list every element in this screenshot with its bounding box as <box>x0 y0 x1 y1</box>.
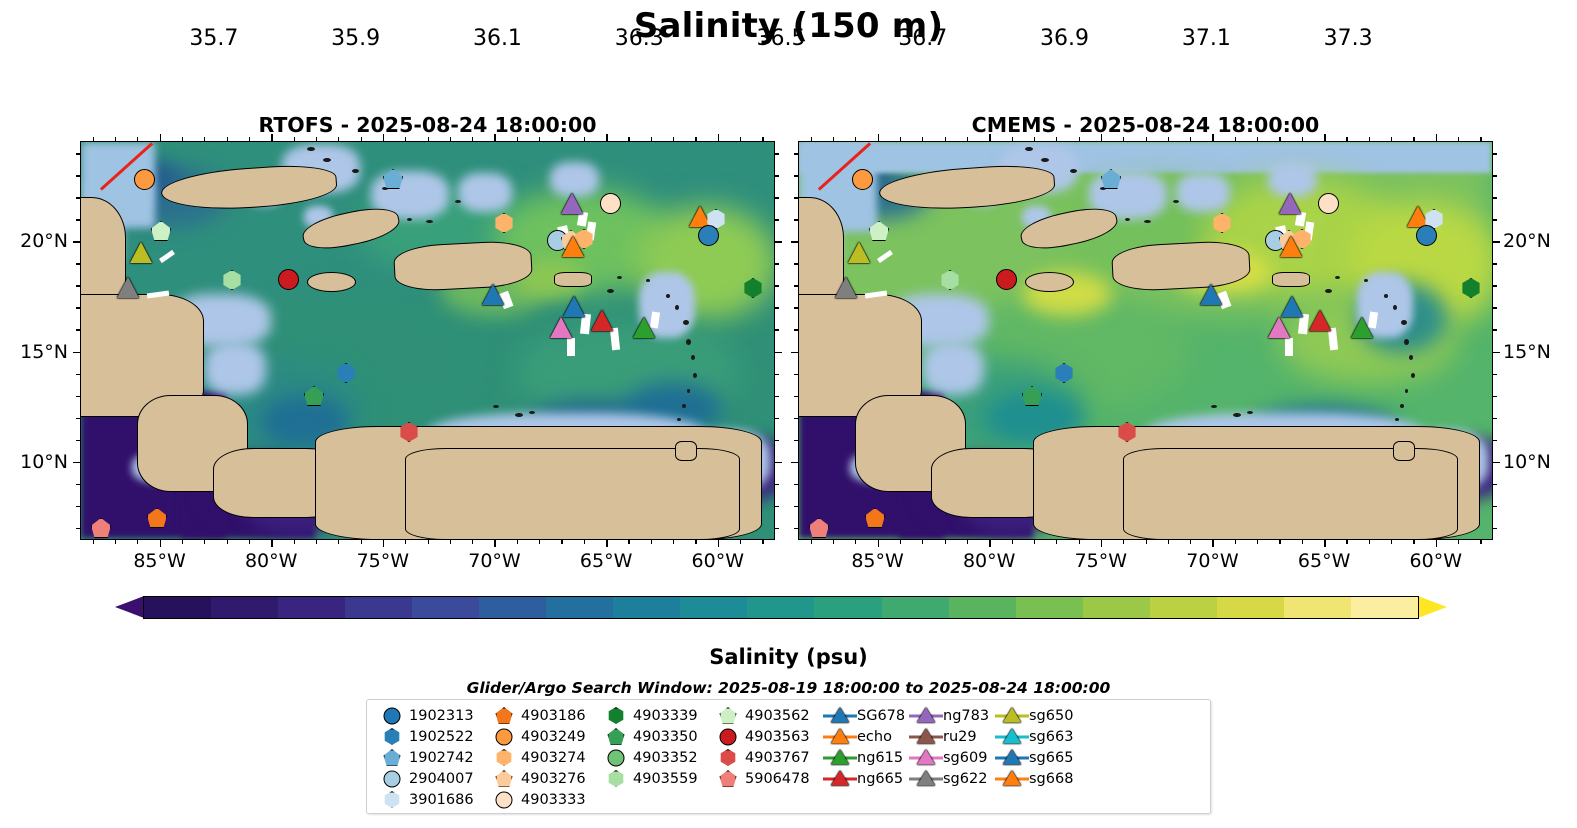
legend-marker-icon <box>375 747 409 768</box>
x-minor-tick <box>651 137 652 141</box>
y-minor-tick <box>775 175 779 176</box>
x-tick-label: 80°W <box>963 550 1015 572</box>
y-minor-tick <box>794 484 798 485</box>
map-feature <box>1176 173 1230 213</box>
x-minor-tick <box>900 540 901 544</box>
map-marker-echo[interactable] <box>562 236 584 257</box>
x-minor-tick <box>1480 540 1481 544</box>
legend-column-argo-2: 4903339490335049033524903559 <box>599 705 711 809</box>
legend-label: 5906478 <box>745 771 823 787</box>
x-minor-tick <box>1146 540 1147 544</box>
map-feature <box>693 373 697 378</box>
map-marker-echo[interactable] <box>1280 236 1302 257</box>
colorbar-swatch <box>412 597 479 618</box>
legend-marker-icon <box>711 768 745 789</box>
legend-glider-icon <box>909 747 943 768</box>
x-tick <box>606 134 608 141</box>
colorbar-extend-max-icon <box>1418 596 1447 618</box>
y-tick <box>791 462 798 464</box>
legend-marker-icon <box>711 789 745 810</box>
map-feature <box>426 220 433 223</box>
legend-glider-icon <box>995 747 1029 768</box>
map-marker-4903563[interactable] <box>278 269 299 290</box>
map-feature <box>1400 404 1404 408</box>
x-minor-tick <box>1279 137 1280 141</box>
y-minor-tick <box>76 285 80 286</box>
y-minor-tick <box>794 175 798 176</box>
x-minor-tick <box>204 137 205 141</box>
map-raster-rtofs <box>81 142 774 539</box>
colorbar-tick-label: 36.7 <box>898 26 947 51</box>
y-minor-tick <box>794 329 798 330</box>
map-marker-1902522[interactable] <box>698 225 719 246</box>
legend-label: ng665 <box>857 771 909 787</box>
map-feature <box>1272 272 1310 287</box>
legend-item-1902313[interactable]: 1902313 <box>375 705 487 726</box>
map-marker-sg665[interactable] <box>1200 284 1222 305</box>
legend-item-4903352[interactable]: 4903352 <box>599 747 711 768</box>
x-minor-tick <box>1257 540 1258 544</box>
map-marker-4903249[interactable] <box>852 169 873 190</box>
map-marker-ng783[interactable] <box>561 193 583 214</box>
legend-marker-icon <box>711 726 745 747</box>
x-minor-tick <box>1413 137 1414 141</box>
legend-glider-icon <box>995 768 1029 789</box>
y-minor-tick <box>1493 484 1497 485</box>
legend-glider-icon <box>823 747 857 768</box>
x-minor-tick <box>1391 137 1392 141</box>
x-minor-tick <box>137 540 138 544</box>
x-tick-label: 60°W <box>692 550 744 572</box>
legend-item-4903767[interactable]: 4903767 <box>711 747 823 768</box>
map-feature <box>1211 405 1217 408</box>
legend-marker-icon <box>487 747 521 768</box>
legend-item-4903563[interactable]: 4903563 <box>711 726 823 747</box>
y-minor-tick <box>775 374 779 375</box>
x-tick <box>271 540 273 547</box>
legend-glider-icon <box>995 705 1029 726</box>
map-feature <box>204 342 267 395</box>
legend-label: sg622 <box>943 771 995 787</box>
map-feature <box>1405 389 1408 393</box>
legend-label: 4903274 <box>521 750 599 766</box>
x-tick <box>1436 540 1438 547</box>
map-marker-SG678[interactable] <box>563 296 585 317</box>
y-minor-tick <box>76 528 80 529</box>
colorbar-tick-label: 36.3 <box>615 26 664 51</box>
x-tick <box>878 134 880 141</box>
legend-marker-icon <box>711 705 745 726</box>
x-minor-tick <box>539 137 540 141</box>
legend-box[interactable]: 1902313190252219027422904007390168649031… <box>366 699 1211 814</box>
x-minor-tick <box>249 137 250 141</box>
y-minor-tick <box>76 418 80 419</box>
y-minor-tick <box>794 528 798 529</box>
legend-label: 4903767 <box>745 750 823 766</box>
map-feature <box>1125 218 1130 221</box>
legend-item-empty <box>711 789 823 810</box>
y-minor-tick <box>1493 219 1497 220</box>
map-feature <box>405 448 740 540</box>
map-marker-4903333[interactable] <box>600 193 621 214</box>
y-minor-tick <box>76 506 80 507</box>
legend-label: echo <box>857 729 909 745</box>
x-minor-tick <box>1034 137 1035 141</box>
x-tick <box>718 134 720 141</box>
x-minor-tick <box>855 540 856 544</box>
x-minor-tick <box>405 540 406 544</box>
y-tick <box>1493 462 1500 464</box>
legend-column-argo-1: 49031864903249490327449032764903333 <box>487 705 599 809</box>
x-minor-tick <box>673 137 674 141</box>
y-minor-tick <box>794 285 798 286</box>
map-feature <box>675 441 697 461</box>
y-minor-tick <box>794 396 798 397</box>
x-minor-tick <box>1168 540 1169 544</box>
colorbar-tick-label: 36.9 <box>1040 26 1089 51</box>
map-feature <box>687 389 690 393</box>
x-minor-tick <box>93 137 94 141</box>
map-marker-4903333[interactable] <box>1318 193 1339 214</box>
x-minor-tick <box>1413 540 1414 544</box>
legend-marker-icon <box>375 726 409 747</box>
legend-item-3901686[interactable]: 3901686 <box>375 789 487 810</box>
y-tick <box>1493 241 1500 243</box>
x-tick-label: 85°W <box>851 550 903 572</box>
x-minor-tick <box>539 540 540 544</box>
map-marker-sg650[interactable] <box>848 242 870 263</box>
colorbar-swatch <box>1016 597 1083 618</box>
legend-label: ng783 <box>943 708 995 724</box>
legend-item-ng665[interactable]: ng665 <box>823 768 909 789</box>
colorbar <box>115 596 1447 619</box>
legend-column-glider-2: sg650sg663sg665sg668 <box>995 705 1081 809</box>
legend-glider-icon <box>909 705 943 726</box>
x-minor-tick <box>695 540 696 544</box>
legend-item-4903276[interactable]: 4903276 <box>487 768 599 789</box>
legend-marker-icon <box>487 726 521 747</box>
colorbar-swatch <box>546 597 613 618</box>
colorbar-swatch <box>479 597 546 618</box>
legend-label: 4903249 <box>521 729 599 745</box>
legend-label: sg650 <box>1029 708 1081 724</box>
y-tick <box>791 352 798 354</box>
legend-glider-icon <box>823 705 857 726</box>
y-minor-tick <box>1493 396 1497 397</box>
colorbar-swatch <box>680 597 747 618</box>
map-feature <box>493 405 499 408</box>
x-tick-label: 60°W <box>1410 550 1462 572</box>
map-marker-ng615[interactable] <box>1351 317 1373 338</box>
colorbar-swatch <box>882 597 949 618</box>
map-marker-sg609[interactable] <box>1268 317 1290 338</box>
x-minor-tick <box>673 540 674 544</box>
map-feature <box>617 276 622 279</box>
y-minor-tick <box>76 153 80 154</box>
colorbar-swatch <box>1150 597 1217 618</box>
colorbar-swatch <box>1284 597 1351 618</box>
colorbar-tick-label: 35.9 <box>331 26 380 51</box>
legend-glider-icon <box>823 726 857 747</box>
y-minor-tick <box>775 153 779 154</box>
legend-label: 1902742 <box>409 750 487 766</box>
x-tick-label: 65°W <box>580 550 632 572</box>
map-marker-ng665[interactable] <box>1309 310 1331 331</box>
y-tick <box>775 462 782 464</box>
legend-item-sg663[interactable]: sg663 <box>995 726 1081 747</box>
legend-item-ru29[interactable]: ru29 <box>909 726 995 747</box>
y-minor-tick <box>775 263 779 264</box>
y-minor-tick <box>76 374 80 375</box>
x-tick <box>1324 134 1326 141</box>
x-minor-tick <box>833 540 834 544</box>
legend-item-2904007[interactable]: 2904007 <box>375 768 487 789</box>
y-tick-label: 20°N <box>1503 230 1551 252</box>
legend-item-5906478[interactable]: 5906478 <box>711 768 823 789</box>
y-minor-tick <box>794 153 798 154</box>
y-minor-tick <box>76 484 80 485</box>
x-minor-tick <box>338 137 339 141</box>
x-minor-tick <box>227 540 228 544</box>
legend-item-ng783[interactable]: ng783 <box>909 705 995 726</box>
legend-item-4903350[interactable]: 4903350 <box>599 726 711 747</box>
legend-item-sg650[interactable]: sg650 <box>995 705 1081 726</box>
legend-glider-icon <box>823 768 857 789</box>
map-feature <box>323 158 331 162</box>
colorbar-swatch <box>144 597 211 618</box>
x-minor-tick <box>361 540 362 544</box>
legend-item-4903562[interactable]: 4903562 <box>711 705 823 726</box>
map-feature <box>1325 289 1332 293</box>
map-marker-ng783[interactable] <box>1279 193 1301 214</box>
y-minor-tick <box>775 285 779 286</box>
x-minor-tick <box>316 540 317 544</box>
x-minor-tick <box>740 137 741 141</box>
legend-item-4903333[interactable]: 4903333 <box>487 789 599 810</box>
y-minor-tick <box>1493 285 1497 286</box>
y-minor-tick <box>775 219 779 220</box>
x-minor-tick <box>855 137 856 141</box>
x-minor-tick <box>115 540 116 544</box>
legend-item-4903559[interactable]: 4903559 <box>599 768 711 789</box>
x-minor-tick <box>561 137 562 141</box>
map-marker-SG678[interactable] <box>1281 296 1303 317</box>
map-feature <box>554 272 592 287</box>
x-tick <box>160 134 162 141</box>
x-minor-tick <box>1480 137 1481 141</box>
map-marker-1902522[interactable] <box>1416 225 1437 246</box>
legend-label: 4903352 <box>633 750 711 766</box>
map-feature <box>1393 305 1397 310</box>
y-tick <box>775 241 782 243</box>
legend-item-1902522[interactable]: 1902522 <box>375 726 487 747</box>
y-tick <box>73 241 80 243</box>
x-minor-tick <box>517 137 518 141</box>
map-feature <box>1335 276 1340 279</box>
x-minor-tick <box>1257 137 1258 141</box>
legend-item-ng615[interactable]: ng615 <box>823 747 909 768</box>
legend-label: ng615 <box>857 750 909 766</box>
legend-item-sg609[interactable]: sg609 <box>909 747 995 768</box>
legend-item-4903249[interactable]: 4903249 <box>487 726 599 747</box>
map-panel-cmems[interactable] <box>798 141 1493 540</box>
y-tick <box>1493 352 1500 354</box>
legend-label: SG678 <box>857 708 909 724</box>
x-minor-tick <box>1012 540 1013 544</box>
x-minor-tick <box>922 137 923 141</box>
x-minor-tick <box>1123 137 1124 141</box>
legend-column-argo-0: 19023131902522190274229040073901686 <box>375 705 487 809</box>
x-minor-tick <box>945 137 946 141</box>
legend-label: sg609 <box>943 750 995 766</box>
map-feature <box>799 142 1491 173</box>
x-minor-tick <box>472 137 473 141</box>
x-minor-tick <box>428 137 429 141</box>
x-minor-tick <box>137 137 138 141</box>
colorbar-swatch <box>278 597 345 618</box>
y-minor-tick <box>76 329 80 330</box>
map-feature <box>1409 355 1413 360</box>
legend-marker-icon <box>375 768 409 789</box>
map-marker-ng665[interactable] <box>591 310 613 331</box>
map-feature <box>515 413 523 417</box>
legend-marker-icon <box>599 789 633 810</box>
x-minor-tick <box>1079 540 1080 544</box>
x-minor-tick <box>1056 540 1057 544</box>
y-tick-label: 20°N <box>20 230 68 252</box>
x-tick-label: 65°W <box>1298 550 1350 572</box>
legend-item-SG678[interactable]: SG678 <box>823 705 909 726</box>
x-minor-tick <box>450 137 451 141</box>
x-tick <box>1212 134 1214 141</box>
map-marker-sg609[interactable] <box>550 317 572 338</box>
map-marker-4903563[interactable] <box>996 269 1017 290</box>
y-minor-tick <box>1493 374 1497 375</box>
y-minor-tick <box>794 440 798 441</box>
colorbar-tick-label: 36.5 <box>757 26 806 51</box>
map-feature <box>1025 147 1033 151</box>
x-minor-tick <box>405 137 406 141</box>
y-minor-tick <box>76 263 80 264</box>
map-panel-rtofs[interactable] <box>80 141 775 540</box>
map-feature <box>675 305 679 310</box>
x-minor-tick <box>762 540 763 544</box>
y-minor-tick <box>794 418 798 419</box>
legend-item-1902742[interactable]: 1902742 <box>375 747 487 768</box>
x-minor-tick <box>1346 137 1347 141</box>
x-minor-tick <box>182 137 183 141</box>
map-feature <box>691 355 695 360</box>
y-minor-tick <box>794 197 798 198</box>
map-feature <box>1233 413 1241 417</box>
y-minor-tick <box>76 175 80 176</box>
x-minor-tick <box>1190 540 1191 544</box>
x-tick <box>606 540 608 547</box>
colorbar-gradient <box>143 596 1419 619</box>
panel-title-cmems: CMEMS - 2025-08-24 18:00:00 <box>798 113 1493 137</box>
y-minor-tick <box>1493 263 1497 264</box>
colorbar-tick-label: 37.3 <box>1324 26 1373 51</box>
map-feature <box>307 147 315 151</box>
y-minor-tick <box>775 528 779 529</box>
legend-item-echo[interactable]: echo <box>823 726 909 747</box>
legend-label: ru29 <box>943 729 995 745</box>
y-minor-tick <box>1493 506 1497 507</box>
legend-item-sg622[interactable]: sg622 <box>909 768 995 789</box>
legend-item-sg668[interactable]: sg668 <box>995 768 1081 789</box>
x-minor-tick <box>1123 540 1124 544</box>
x-minor-tick <box>762 137 763 141</box>
legend-marker-icon <box>599 726 633 747</box>
legend-label: 4903186 <box>521 708 599 724</box>
x-minor-tick <box>1146 137 1147 141</box>
x-minor-tick <box>833 137 834 141</box>
x-minor-tick <box>1458 540 1459 544</box>
x-tick <box>878 540 880 547</box>
legend-label: 4903559 <box>633 771 711 787</box>
legend-marker-icon <box>711 747 745 768</box>
colorbar-swatch <box>211 597 278 618</box>
map-marker-sg665[interactable] <box>482 284 504 305</box>
y-minor-tick <box>76 440 80 441</box>
colorbar-label: Salinity (psu) <box>0 645 1577 669</box>
x-tick <box>494 134 496 141</box>
legend-label: 3901686 <box>409 792 487 808</box>
legend-item-4903186[interactable]: 4903186 <box>487 705 599 726</box>
x-minor-tick <box>294 540 295 544</box>
x-tick <box>1101 134 1103 141</box>
legend-label: sg665 <box>1029 750 1081 766</box>
x-minor-tick <box>561 540 562 544</box>
legend-label: 4903563 <box>745 729 823 745</box>
map-marker-ng615[interactable] <box>633 317 655 338</box>
legend-label: 2904007 <box>409 771 487 787</box>
x-minor-tick <box>1369 137 1370 141</box>
map-marker-sg650[interactable] <box>130 242 152 263</box>
y-minor-tick <box>775 197 779 198</box>
colorbar-tick-label: 37.1 <box>1182 26 1231 51</box>
colorbar-swatch <box>1083 597 1150 618</box>
x-tick <box>383 540 385 547</box>
panel-title-rtofs: RTOFS - 2025-08-24 18:00:00 <box>80 113 775 137</box>
legend-item-4903339[interactable]: 4903339 <box>599 705 711 726</box>
map-marker-sg622[interactable] <box>835 277 857 298</box>
legend-column-glider-1: ng783ru29sg609sg622 <box>909 705 995 809</box>
x-minor-tick <box>1012 137 1013 141</box>
map-marker-sg622[interactable] <box>117 277 139 298</box>
y-minor-tick <box>76 197 80 198</box>
x-minor-tick <box>361 137 362 141</box>
y-tick <box>791 241 798 243</box>
y-minor-tick <box>1493 153 1497 154</box>
map-feature <box>407 218 412 221</box>
x-minor-tick <box>628 137 629 141</box>
x-minor-tick <box>1302 137 1303 141</box>
x-minor-tick <box>450 540 451 544</box>
legend-label: 4903339 <box>633 708 711 724</box>
map-marker-4903249[interactable] <box>134 169 155 190</box>
y-minor-tick <box>794 263 798 264</box>
x-tick-label: 70°W <box>1186 550 1238 572</box>
legend-item-sg665[interactable]: sg665 <box>995 747 1081 768</box>
map-feature <box>307 272 356 292</box>
x-minor-tick <box>740 540 741 544</box>
map-feature <box>922 342 985 395</box>
legend-item-4903274[interactable]: 4903274 <box>487 747 599 768</box>
x-minor-tick <box>1168 137 1169 141</box>
legend-label: 4903562 <box>745 708 823 724</box>
legend-marker-icon <box>599 768 633 789</box>
